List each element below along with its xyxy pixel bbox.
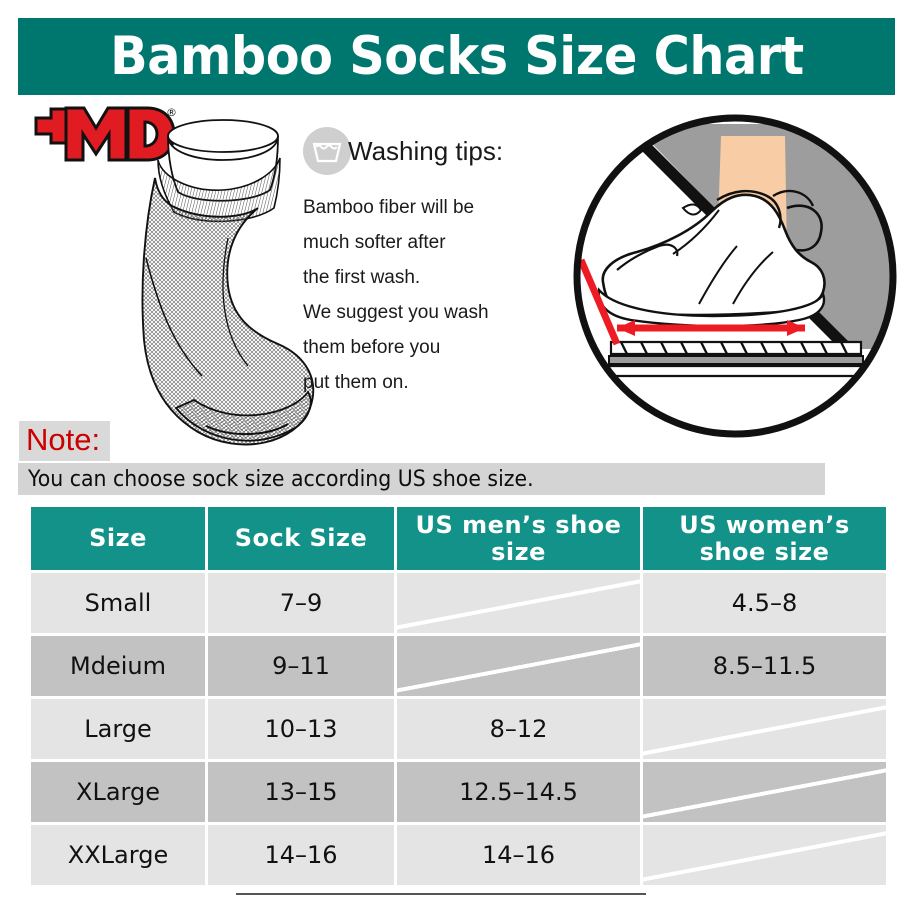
size-chart-table: Size Sock Size US men’s shoe size US wom… <box>28 504 889 888</box>
column-header-sock-size: Sock Size <box>208 507 394 570</box>
column-header-us-men: US men’s shoe size <box>397 507 640 570</box>
washing-tips-block: Washing tips: Bamboo fiber will be much … <box>303 127 568 400</box>
table-row: XXLarge 14–16 14–16 <box>31 825 886 885</box>
note-label-text: Note: <box>26 422 100 457</box>
table-row: XLarge 13–15 12.5–14.5 <box>31 762 886 822</box>
washing-tips-line: put them on. <box>303 365 568 400</box>
wash-tub-icon <box>303 127 351 175</box>
washing-tips-title: Washing tips: <box>348 136 503 167</box>
table-row: Large 10–13 8–12 <box>31 699 886 759</box>
washing-tips-heading-row: Washing tips: <box>303 127 568 175</box>
note-subtitle-text: You can choose sock size according US sh… <box>28 467 534 492</box>
cell-sock-size: 13–15 <box>208 762 394 822</box>
washing-tips-text: Bamboo fiber will be much softer after t… <box>303 190 568 400</box>
title-banner: Bamboo Socks Size Chart <box>18 18 895 95</box>
bottom-divider <box>236 893 646 895</box>
sock-illustration <box>128 108 328 460</box>
page-title: Bamboo Socks Size Chart <box>110 26 804 87</box>
cell-us-men: 8–12 <box>397 699 640 759</box>
cell-size: XLarge <box>31 762 205 822</box>
cell-sock-size: 9–11 <box>208 636 394 696</box>
table-row: Mdeium 9–11 8.5–11.5 <box>31 636 886 696</box>
washing-tips-line: Bamboo fiber will be <box>303 190 568 225</box>
cell-us-men: 12.5–14.5 <box>397 762 640 822</box>
washing-tips-line: We suggest you wash <box>303 295 568 330</box>
cell-sock-size: 7–9 <box>208 573 394 633</box>
cell-us-women-blank <box>643 825 886 885</box>
column-header-us-women: US women’s shoe size <box>643 507 886 570</box>
washing-tips-line: the first wash. <box>303 260 568 295</box>
cell-size: XXLarge <box>31 825 205 885</box>
note-subtitle-bar: You can choose sock size according US sh… <box>18 463 825 495</box>
column-header-size: Size <box>31 507 205 570</box>
cell-us-men-blank <box>397 636 640 696</box>
cell-us-women: 4.5–8 <box>643 573 886 633</box>
note-label: Note: <box>19 421 110 461</box>
cell-sock-size: 10–13 <box>208 699 394 759</box>
washing-tips-line: them before you <box>303 330 568 365</box>
table-row: Small 7–9 4.5–8 <box>31 573 886 633</box>
cell-us-women-blank <box>643 762 886 822</box>
washing-tips-line: much softer after <box>303 225 568 260</box>
cell-us-women: 8.5–11.5 <box>643 636 886 696</box>
shoe-measure-illustration <box>573 104 898 454</box>
table-header-row: Size Sock Size US men’s shoe size US wom… <box>31 507 886 570</box>
cell-sock-size: 14–16 <box>208 825 394 885</box>
cell-size: Mdeium <box>31 636 205 696</box>
cell-us-men-blank <box>397 573 640 633</box>
cell-size: Small <box>31 573 205 633</box>
cell-us-men: 14–16 <box>397 825 640 885</box>
cell-size: Large <box>31 699 205 759</box>
cell-us-women-blank <box>643 699 886 759</box>
